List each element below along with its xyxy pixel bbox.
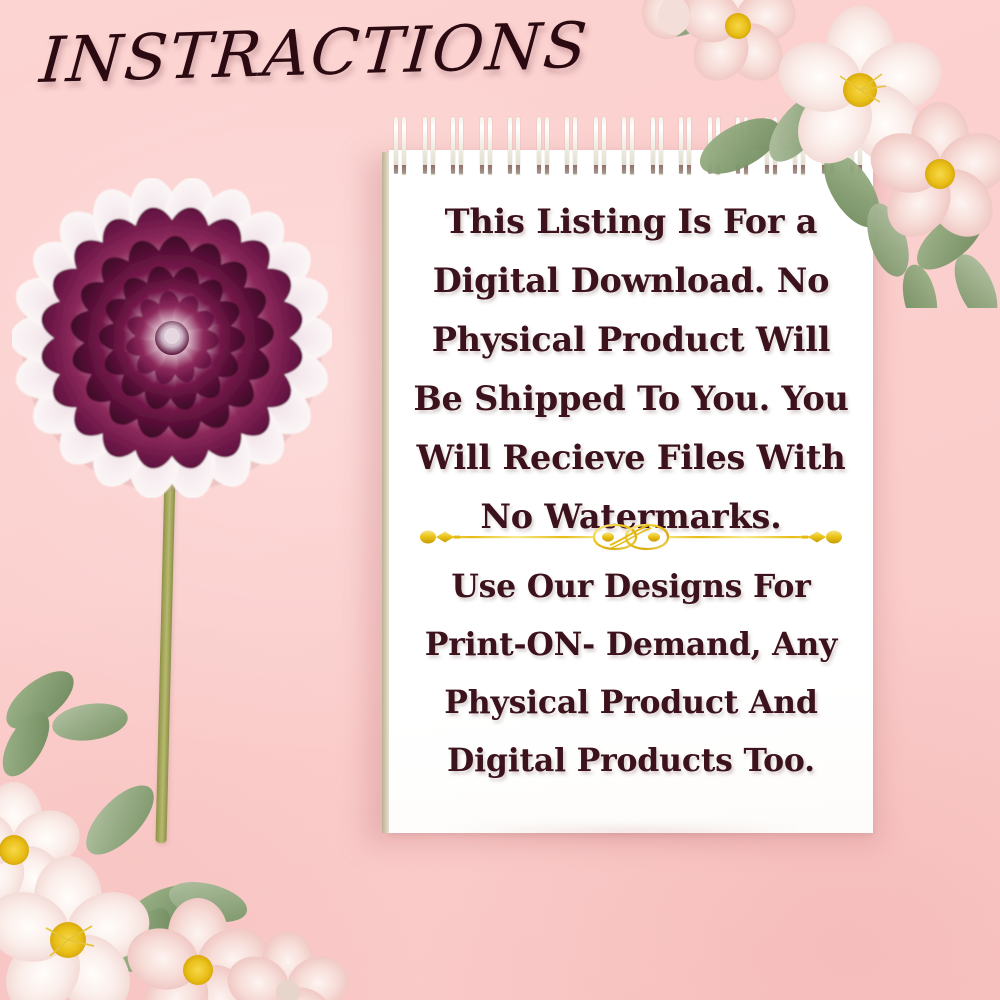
page-title: INSTRACTIONS: [37, 5, 515, 104]
flower-stem-icon: [155, 473, 175, 843]
notepad: This Listing Is For a Digital Download. …: [381, 150, 873, 834]
listing-description-paragraph: This Listing Is For a Digital Download. …: [405, 192, 857, 546]
notepad-bottom-shadow: [381, 828, 877, 854]
usage-rights-paragraph: Use Our Designs For Print-ON- Demand, An…: [405, 558, 857, 790]
poster-canvas: INSTRACTIONS: [0, 0, 1000, 1000]
notepad-content: This Listing Is For a Digital Download. …: [389, 150, 873, 833]
gold-flourish-divider-icon: [405, 516, 857, 558]
dahlia-flower-icon: [12, 178, 332, 498]
dahlia-decoration: [12, 178, 332, 858]
